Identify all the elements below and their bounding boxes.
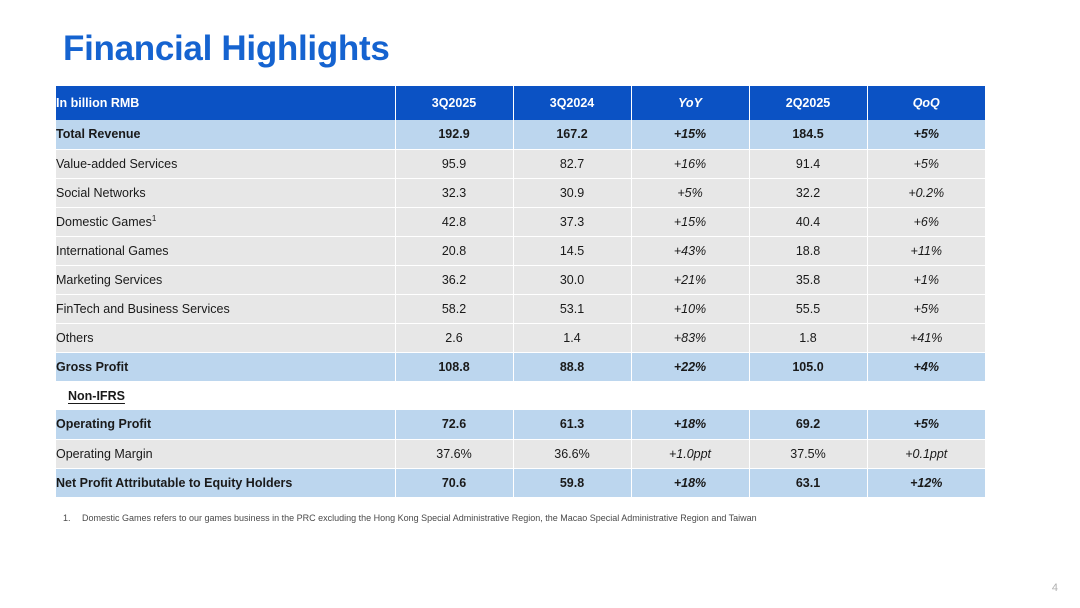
row-value: +5% bbox=[867, 410, 985, 439]
row-value: +22% bbox=[631, 352, 749, 381]
row-value: 91.4 bbox=[749, 149, 867, 178]
row-value: +1.0ppt bbox=[631, 439, 749, 468]
row-label-text: Total Revenue bbox=[56, 127, 141, 141]
row-value: +16% bbox=[631, 149, 749, 178]
page-number: 4 bbox=[1052, 582, 1058, 594]
row-value: 35.8 bbox=[749, 265, 867, 294]
row-value: +5% bbox=[867, 120, 985, 149]
row-value: 2.6 bbox=[395, 323, 513, 352]
row-value: 108.8 bbox=[395, 352, 513, 381]
footnote: 1. Domestic Games refers to our games bu… bbox=[63, 513, 993, 525]
row-value: 192.9 bbox=[395, 120, 513, 149]
row-value: 40.4 bbox=[749, 207, 867, 236]
row-value: 36.2 bbox=[395, 265, 513, 294]
row-value: 37.3 bbox=[513, 207, 631, 236]
table-row: Marketing Services36.230.0+21%35.8+1% bbox=[56, 265, 985, 294]
row-value: 32.3 bbox=[395, 178, 513, 207]
row-label-text: Domestic Games bbox=[56, 215, 152, 229]
row-label: Marketing Services bbox=[56, 265, 395, 294]
row-value: 59.8 bbox=[513, 468, 631, 497]
row-value: +83% bbox=[631, 323, 749, 352]
table-body: Total Revenue192.9167.2+15%184.5+5%Value… bbox=[56, 120, 985, 497]
row-label-text: Gross Profit bbox=[56, 360, 128, 374]
row-value: +15% bbox=[631, 120, 749, 149]
row-value: +5% bbox=[631, 178, 749, 207]
row-value: +41% bbox=[867, 323, 985, 352]
row-value: +21% bbox=[631, 265, 749, 294]
row-value: 72.6 bbox=[395, 410, 513, 439]
row-value: 69.2 bbox=[749, 410, 867, 439]
row-value bbox=[395, 381, 513, 410]
row-label: Domestic Games1 bbox=[56, 207, 395, 236]
column-header-3q2024: 3Q2024 bbox=[513, 86, 631, 120]
row-value: 53.1 bbox=[513, 294, 631, 323]
financial-highlights-table: In billion RMB 3Q2025 3Q2024 YoY 2Q2025 … bbox=[56, 86, 985, 498]
row-value: 1.8 bbox=[749, 323, 867, 352]
row-value: 30.9 bbox=[513, 178, 631, 207]
table-row: Net Profit Attributable to Equity Holder… bbox=[56, 468, 985, 497]
table-row: Domestic Games142.837.3+15%40.4+6% bbox=[56, 207, 985, 236]
row-value: 32.2 bbox=[749, 178, 867, 207]
row-value: 42.8 bbox=[395, 207, 513, 236]
row-label-text: Operating Profit bbox=[56, 417, 151, 431]
row-label: Total Revenue bbox=[56, 120, 395, 149]
row-value: 184.5 bbox=[749, 120, 867, 149]
row-value: 61.3 bbox=[513, 410, 631, 439]
row-label: Net Profit Attributable to Equity Holder… bbox=[56, 468, 395, 497]
table-row: International Games20.814.5+43%18.8+11% bbox=[56, 236, 985, 265]
row-value: 1.4 bbox=[513, 323, 631, 352]
row-value: +43% bbox=[631, 236, 749, 265]
table-row: Gross Profit108.888.8+22%105.0+4% bbox=[56, 352, 985, 381]
row-value: +5% bbox=[867, 294, 985, 323]
row-label-text: Operating Margin bbox=[56, 447, 153, 461]
row-label: Operating Profit bbox=[56, 410, 395, 439]
row-label-text: Marketing Services bbox=[56, 273, 162, 287]
table-row: FinTech and Business Services58.253.1+10… bbox=[56, 294, 985, 323]
row-value: 20.8 bbox=[395, 236, 513, 265]
table-row: Non-IFRS bbox=[56, 381, 985, 410]
table-row: Social Networks32.330.9+5%32.2+0.2% bbox=[56, 178, 985, 207]
slide-canvas: Financial Highlights In billion RMB 3Q20… bbox=[0, 0, 1080, 608]
row-value: +10% bbox=[631, 294, 749, 323]
column-header-3q2025: 3Q2025 bbox=[395, 86, 513, 120]
row-value: 30.0 bbox=[513, 265, 631, 294]
row-label: Non-IFRS bbox=[56, 381, 395, 410]
row-value: 36.6% bbox=[513, 439, 631, 468]
row-value: 37.5% bbox=[749, 439, 867, 468]
row-label: Gross Profit bbox=[56, 352, 395, 381]
row-value: 63.1 bbox=[749, 468, 867, 497]
row-label-text: FinTech and Business Services bbox=[56, 302, 230, 316]
row-value: 37.6% bbox=[395, 439, 513, 468]
page-title: Financial Highlights bbox=[63, 30, 390, 69]
column-header-label: In billion RMB bbox=[56, 86, 395, 120]
row-value: 58.2 bbox=[395, 294, 513, 323]
row-label: Others bbox=[56, 323, 395, 352]
row-label: Value-added Services bbox=[56, 149, 395, 178]
row-value: +0.2% bbox=[867, 178, 985, 207]
row-value bbox=[513, 381, 631, 410]
table-row: Value-added Services95.982.7+16%91.4+5% bbox=[56, 149, 985, 178]
footnote-text: Domestic Games refers to our games busin… bbox=[82, 513, 757, 525]
footnote-marker: 1 bbox=[152, 214, 156, 223]
row-value: +1% bbox=[867, 265, 985, 294]
table-header: In billion RMB 3Q2025 3Q2024 YoY 2Q2025 … bbox=[56, 86, 985, 120]
row-value: 82.7 bbox=[513, 149, 631, 178]
row-label-text: Net Profit Attributable to Equity Holder… bbox=[56, 476, 292, 490]
column-header-yoy: YoY bbox=[631, 86, 749, 120]
table-row: Operating Profit72.661.3+18%69.2+5% bbox=[56, 410, 985, 439]
row-value: +6% bbox=[867, 207, 985, 236]
row-value: 18.8 bbox=[749, 236, 867, 265]
row-value: +18% bbox=[631, 410, 749, 439]
row-value: 55.5 bbox=[749, 294, 867, 323]
row-value: 95.9 bbox=[395, 149, 513, 178]
column-header-2q2025: 2Q2025 bbox=[749, 86, 867, 120]
row-label: FinTech and Business Services bbox=[56, 294, 395, 323]
row-label: International Games bbox=[56, 236, 395, 265]
row-value: 70.6 bbox=[395, 468, 513, 497]
row-value bbox=[631, 381, 749, 410]
row-value: +0.1ppt bbox=[867, 439, 985, 468]
row-label: Social Networks bbox=[56, 178, 395, 207]
table-row: Others2.61.4+83%1.8+41% bbox=[56, 323, 985, 352]
row-value bbox=[749, 381, 867, 410]
row-label-text: Social Networks bbox=[56, 186, 146, 200]
row-value: +4% bbox=[867, 352, 985, 381]
row-label-text: Others bbox=[56, 331, 94, 345]
row-value: 14.5 bbox=[513, 236, 631, 265]
section-label: Non-IFRS bbox=[56, 389, 125, 403]
row-value: 88.8 bbox=[513, 352, 631, 381]
row-value: +12% bbox=[867, 468, 985, 497]
row-value: 167.2 bbox=[513, 120, 631, 149]
table-row: Total Revenue192.9167.2+15%184.5+5% bbox=[56, 120, 985, 149]
row-value: +18% bbox=[631, 468, 749, 497]
row-value bbox=[867, 381, 985, 410]
row-label-text: International Games bbox=[56, 244, 169, 258]
row-value: +11% bbox=[867, 236, 985, 265]
row-value: +15% bbox=[631, 207, 749, 236]
row-value: 105.0 bbox=[749, 352, 867, 381]
table-row: Operating Margin37.6%36.6%+1.0ppt37.5%+0… bbox=[56, 439, 985, 468]
row-label: Operating Margin bbox=[56, 439, 395, 468]
row-value: +5% bbox=[867, 149, 985, 178]
row-label-text: Value-added Services bbox=[56, 157, 177, 171]
footnote-number: 1. bbox=[63, 513, 73, 525]
column-header-qoq: QoQ bbox=[867, 86, 985, 120]
table-header-row: In billion RMB 3Q2025 3Q2024 YoY 2Q2025 … bbox=[56, 86, 985, 120]
